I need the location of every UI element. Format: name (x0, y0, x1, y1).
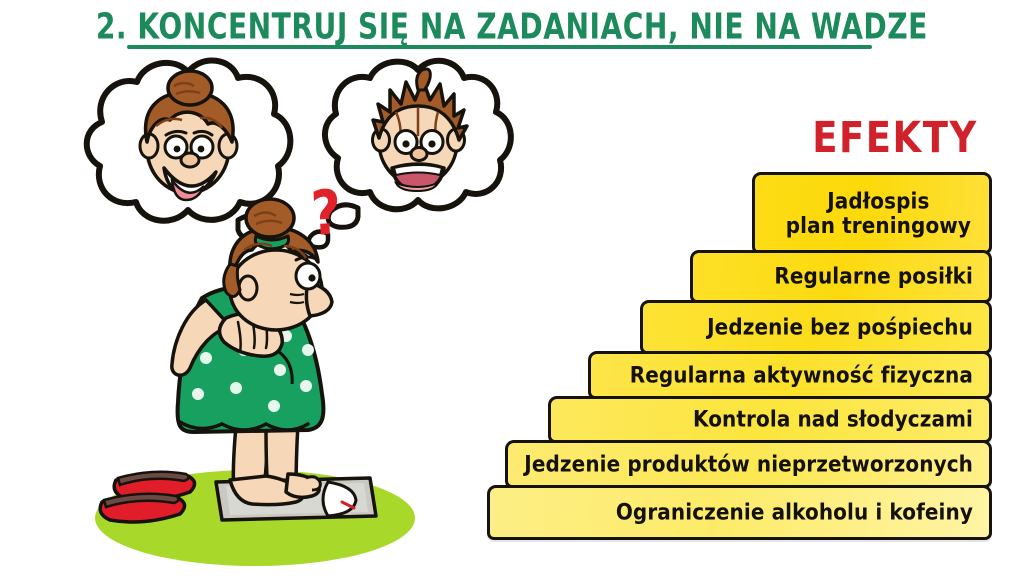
staircase-step[interactable]: Jedzenie produktów nieprzetworzonych (505, 440, 992, 488)
staircase-step-label: Jedzenie bez pośpiechu (707, 315, 973, 340)
staircase-step-label: Regularne posiłki (774, 264, 973, 289)
staircase-step[interactable]: Jedzenie bez pośpiechu (640, 300, 992, 354)
slide-root: 2. KONCENTRUJ SIĘ NA ZADANIACH, NIE NA W… (0, 0, 1024, 576)
staircase-step-label: Jadłospis plan treningowy (786, 188, 973, 237)
staircase-step[interactable]: Kontrola nad słodyczami (548, 396, 992, 443)
staircase-step[interactable]: Regularna aktywność fizyczna (588, 351, 992, 399)
staircase-step[interactable]: Jadłospis plan treningowy (752, 172, 992, 254)
staircase-step[interactable]: Ograniczenie alkoholu i kofeiny (487, 485, 992, 540)
staircase-step-label: Regularna aktywność fizyczna (630, 363, 973, 388)
effects-staircase: Jadłospis plan treningowy Regularne posi… (0, 0, 1024, 576)
staircase-step[interactable]: Regularne posiłki (690, 250, 992, 303)
staircase-step-label: Kontrola nad słodyczami (693, 407, 973, 432)
staircase-step-label: Jedzenie produktów nieprzetworzonych (524, 452, 973, 477)
staircase-step-label: Ograniczenie alkoholu i kofeiny (616, 500, 973, 525)
